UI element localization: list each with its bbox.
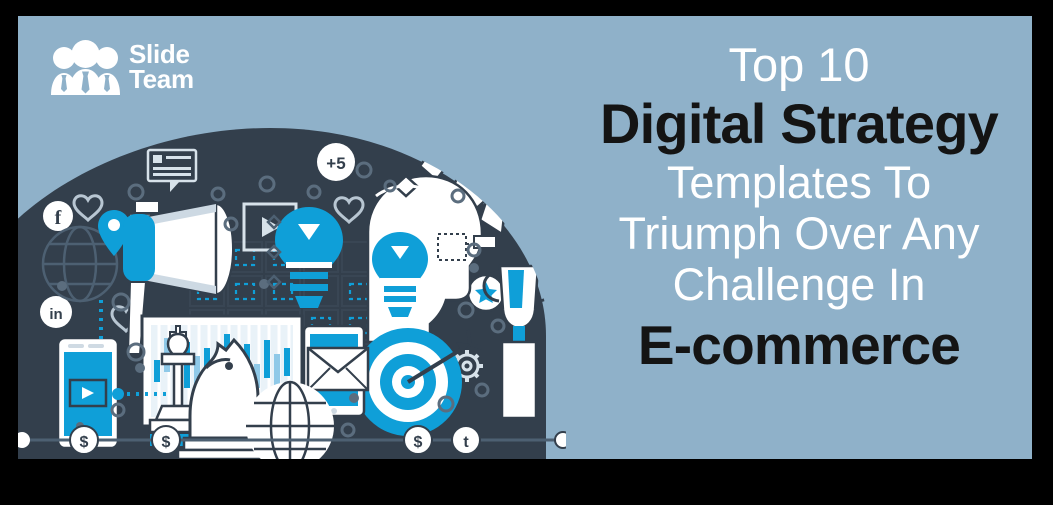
facebook-icon: f (43, 201, 73, 231)
slideteam-logo[interactable]: Slide Team (48, 32, 228, 102)
svg-text:f: f (55, 207, 62, 229)
slideteam-logo-text: Slide Team (129, 42, 194, 93)
svg-text:$: $ (80, 434, 89, 451)
envelope-icon (308, 348, 368, 390)
headline-line-challenge-in: Challenge In (566, 258, 1032, 309)
linkedin-icon: in (40, 296, 72, 328)
svg-text:in: in (49, 306, 62, 323)
headline-line-digital-strategy: Digital Strategy (566, 90, 1032, 153)
dollar-coin-icon: $ (70, 426, 98, 454)
digital-strategy-illustration: f in (18, 104, 566, 459)
baseline-end-node (555, 432, 566, 448)
screenshot-root: Slide Team Top 10 Digital Strategy Templ… (0, 0, 1053, 505)
people-group-icon (48, 39, 123, 95)
dollar-coin-icon: $ (152, 426, 180, 454)
dollar-coin-icon: $ (404, 426, 432, 454)
connector-node (112, 388, 124, 400)
headline-block: Top 10 Digital Strategy Templates To Tri… (566, 30, 1032, 375)
headline-line-triumph-over-any: Triumph Over Any (566, 207, 1032, 258)
headline-line-top10: Top 10 (566, 30, 1032, 90)
presentation-slide: Slide Team Top 10 Digital Strategy Templ… (18, 16, 1032, 459)
t-coin-icon: t (452, 426, 480, 454)
svg-text:$: $ (162, 434, 171, 451)
svg-text:$: $ (414, 434, 423, 451)
headline-line-ecommerce: E-commerce (566, 308, 1032, 374)
svg-text:t: t (463, 434, 469, 451)
headline-line-templates-to: Templates To (566, 153, 1032, 207)
plus-five-badge-icon: +5 (317, 143, 355, 181)
plus-five-label: +5 (326, 154, 345, 173)
logo-text-team: Team (129, 67, 194, 92)
